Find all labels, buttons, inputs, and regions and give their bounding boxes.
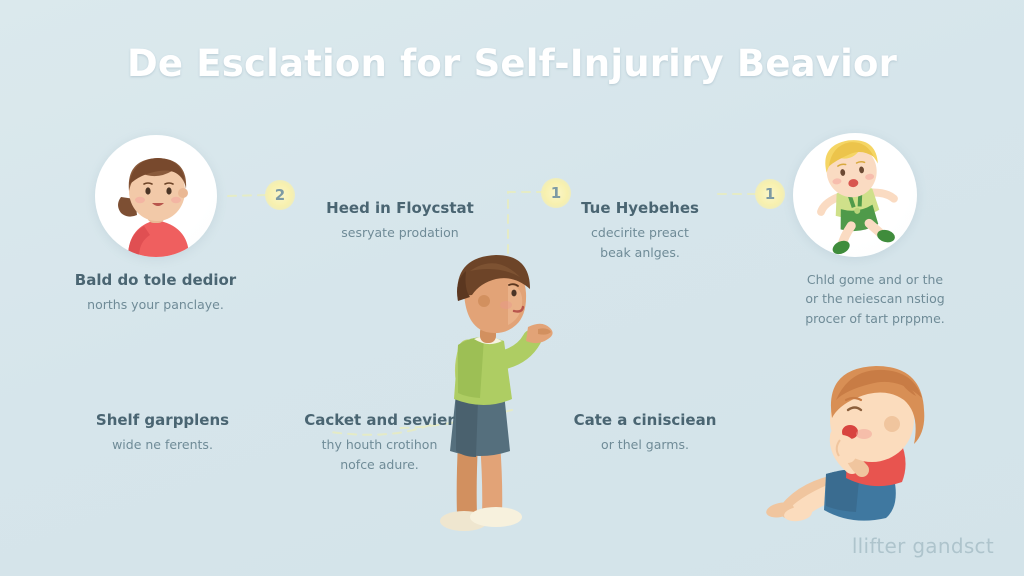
block-heading: Bald do tole dedior — [48, 270, 263, 290]
text-block-right-bottom: Cate a cinisciean or thel garms. — [545, 410, 745, 455]
connector-left-to-badge2 — [228, 195, 266, 196]
block-body-line: Chld gome and or the — [760, 270, 990, 289]
block-body-line: norths your panclaye. — [48, 295, 263, 314]
text-block-center-right-top: Tue Hyebehes cdecirite preact beak anlge… — [545, 198, 735, 262]
block-body: Chld gome and or the or the neiescan nst… — [760, 270, 990, 328]
block-body-line: sesryate prodation — [285, 223, 515, 242]
avatar-boy-jumping — [793, 133, 917, 257]
block-body: cdecirite preact beak anlges. — [545, 223, 735, 262]
block-heading: Shelf garpplens — [55, 410, 270, 430]
block-heading: Cate a cinisciean — [545, 410, 745, 430]
text-block-left-top: Bald do tole dedior norths your panclaye… — [48, 270, 263, 315]
text-block-center-bottom: Cacket and sevier thy houth crotihon nof… — [272, 410, 487, 474]
step-badge-1-right[interactable]: 1 — [755, 179, 785, 209]
seated-boy-figure — [744, 362, 944, 540]
avatar-girl-ponytail — [95, 135, 217, 257]
block-body-line: cdecirite preact — [545, 223, 735, 242]
block-heading: Tue Hyebehes — [545, 198, 735, 218]
infographic-canvas: De Esclation for Self-Injuriry Beavior — [0, 0, 1024, 576]
block-body: norths your panclaye. — [48, 295, 263, 314]
block-heading: Cacket and sevier — [272, 410, 487, 430]
block-body-line: wide ne ferents. — [55, 435, 270, 454]
text-block-center-left-top: Heed in Floycstat sesryate prodation — [285, 198, 515, 243]
block-body: wide ne ferents. — [55, 435, 270, 454]
block-heading: Heed in Floycstat — [285, 198, 515, 218]
block-body-line: or thel garms. — [545, 435, 745, 454]
block-body-line: nofce adure. — [272, 455, 487, 474]
block-body: thy houth crotihon nofce adure. — [272, 435, 487, 474]
block-body-line: thy houth crotihon — [272, 435, 487, 454]
block-body: sesryate prodation — [285, 223, 515, 242]
block-body-line: procer of tart prppme. — [760, 309, 990, 328]
standing-boy-figure — [410, 253, 580, 541]
block-body: or thel garms. — [545, 435, 745, 454]
block-body-line: beak anlges. — [545, 243, 735, 262]
text-block-right-top: Chld gome and or the or the neiescan nst… — [760, 270, 990, 328]
text-block-left-bottom: Shelf garpplens wide ne ferents. — [55, 410, 270, 455]
block-body-line: or the neiescan nstiog — [760, 289, 990, 308]
watermark-text: llifter gandsct — [852, 534, 994, 558]
page-title: De Esclation for Self-Injuriry Beavior — [0, 42, 1024, 85]
